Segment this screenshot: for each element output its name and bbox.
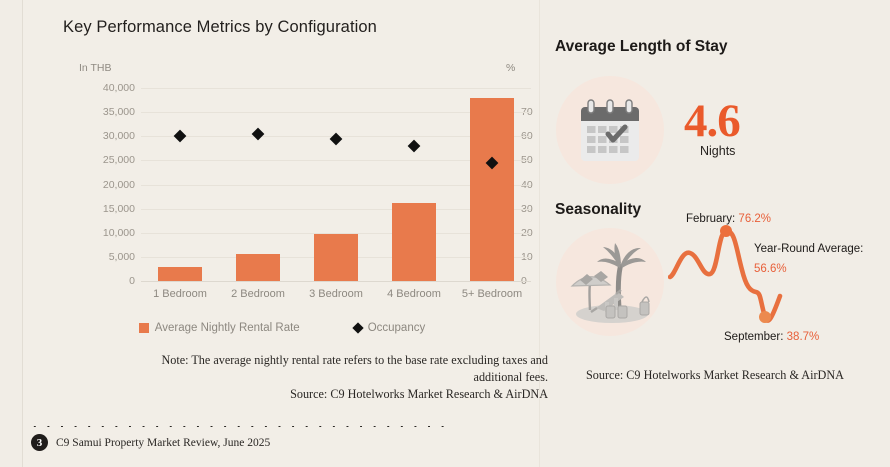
- trough-marker: [759, 311, 771, 323]
- peak-label: February:: [686, 213, 735, 225]
- peak-marker: [720, 225, 732, 237]
- chart-title: Key Performance Metrics by Configuration: [63, 18, 377, 37]
- occupancy-marker: [174, 130, 187, 143]
- peak-value: 76.2%: [738, 213, 771, 225]
- footer-text: C9 Samui Property Market Review, June 20…: [56, 437, 270, 449]
- length-of-stay-title: Average Length of Stay: [555, 38, 728, 56]
- left-axis-tick: 30,000: [79, 130, 135, 142]
- x-axis-label: 3 Bedroom: [293, 288, 379, 300]
- chart-card: Key Performance Metrics by Configuration…: [22, 0, 540, 467]
- left-axis-tick: 5,000: [79, 251, 135, 263]
- gridline: [141, 88, 531, 89]
- right-axis-unit-label: %: [506, 62, 515, 74]
- calendar-check-icon: [556, 76, 664, 184]
- seasonality-icon-circle: [556, 228, 664, 336]
- left-axis-unit-label: In THB: [79, 62, 111, 74]
- beach-palm-umbrella-icon: [556, 228, 664, 336]
- plot-area: [141, 88, 531, 281]
- seasonality-source: Source: C9 Hotelworks Market Research & …: [555, 368, 875, 383]
- length-of-stay-unit: Nights: [700, 144, 735, 158]
- legend-label: Average Nightly Rental Rate: [155, 322, 300, 334]
- average-value: 56.6%: [754, 260, 884, 280]
- left-axis-tick: 10,000: [79, 227, 135, 239]
- seasonality-average-annotation: Year-Round Average: 56.6%: [754, 240, 884, 279]
- x-axis-label: 1 Bedroom: [137, 288, 223, 300]
- occupancy-marker: [330, 132, 343, 145]
- bar: [314, 234, 358, 281]
- seasonality-title: Seasonality: [555, 201, 641, 219]
- occupancy-marker: [408, 140, 421, 153]
- legend-diamond-icon: [352, 322, 363, 333]
- chart-note: Note: The average nightly rental rate re…: [153, 352, 548, 402]
- x-axis-label: 2 Bedroom: [215, 288, 301, 300]
- footer-divider: [28, 425, 448, 428]
- slide-canvas: Key Performance Metrics by Configuration…: [0, 0, 890, 467]
- left-axis-tick: 15,000: [79, 203, 135, 215]
- left-axis-tick: 25,000: [79, 154, 135, 166]
- bar: [236, 254, 280, 281]
- trough-label: September:: [724, 331, 783, 343]
- left-axis-tick: 0: [79, 275, 135, 287]
- bar: [392, 203, 436, 281]
- chart-legend: Average Nightly Rental RateOccupancy: [23, 322, 541, 334]
- legend-label: Occupancy: [368, 322, 426, 334]
- seasonality-peak-annotation: February: 76.2%: [686, 213, 771, 225]
- length-of-stay-icon-circle: [556, 76, 664, 184]
- occupancy-marker: [252, 127, 265, 140]
- left-axis-tick: 40,000: [79, 82, 135, 94]
- left-axis-tick: 35,000: [79, 106, 135, 118]
- x-axis-label: 5+ Bedroom: [449, 288, 535, 300]
- trough-value: 38.7%: [787, 331, 820, 343]
- legend-item[interactable]: Average Nightly Rental Rate: [139, 322, 300, 334]
- note-text: Note: The average nightly rental rate re…: [161, 353, 548, 384]
- seasonality-trough-annotation: September: 38.7%: [724, 331, 819, 343]
- bar: [158, 267, 202, 281]
- bar: [470, 98, 514, 281]
- gridline: [141, 281, 531, 282]
- left-axis-tick: 20,000: [79, 179, 135, 191]
- x-axis-label: 4 Bedroom: [371, 288, 457, 300]
- chart-source: Source: C9 Hotelworks Market Research & …: [153, 386, 548, 403]
- average-label: Year-Round Average:: [754, 243, 863, 255]
- legend-item[interactable]: Occupancy: [354, 322, 426, 334]
- legend-square-icon: [139, 323, 149, 333]
- length-of-stay-value: 4.6: [684, 94, 740, 148]
- page-number-badge: 3: [31, 434, 48, 451]
